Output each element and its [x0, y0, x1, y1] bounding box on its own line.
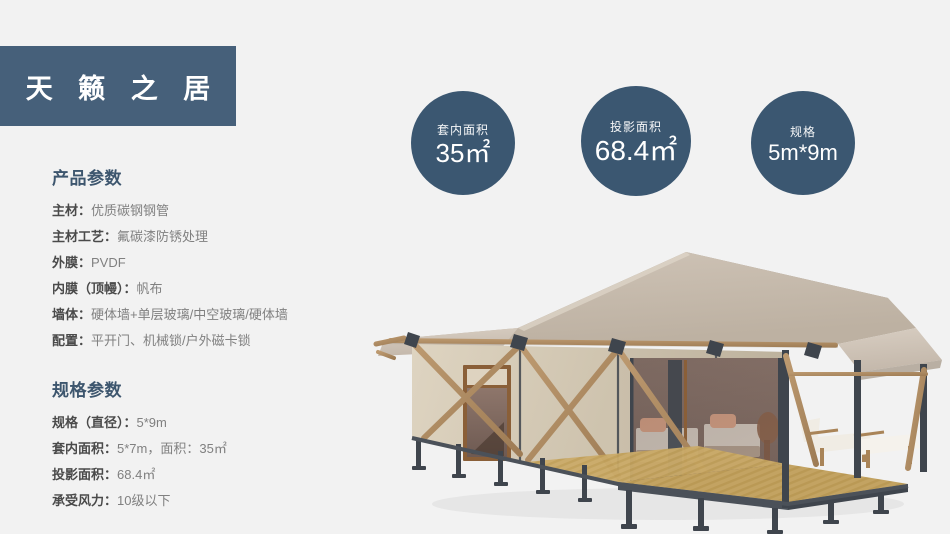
post-footplate	[823, 520, 839, 524]
spec-params-group: 规格参数 规格（直径）：5*9m 套内面积：5*7m，面积：35㎡ 投影面积：6…	[52, 376, 382, 514]
post-footplate	[621, 524, 637, 529]
spec-value: 5*7m，面积：35㎡	[117, 441, 227, 456]
post-footplate	[452, 474, 466, 478]
support-post	[878, 492, 884, 512]
post-footplate	[412, 466, 426, 470]
badge-label: 投影面积	[610, 118, 662, 135]
poster-root: 天 籁 之 居 产品参数 主材：优质碳钢钢管 主材工艺：氟碳漆防锈处理 外膜：P…	[0, 0, 950, 534]
specifications-panel: 产品参数 主材：优质碳钢钢管 主材工艺：氟碳漆防锈处理 外膜：PVDF 内膜（顶…	[52, 164, 382, 520]
stat-badge-interior-area: 套内面积 35㎡	[411, 91, 515, 195]
spec-label: 承受风力：	[52, 493, 117, 508]
roof-main-slope	[384, 252, 916, 344]
spec-label: 内膜（顶幔）：	[52, 281, 137, 296]
spec-label: 规格（直径）：	[52, 415, 137, 430]
spec-value: 68.4㎡	[117, 467, 155, 482]
spec-row: 外膜：PVDF	[52, 250, 382, 276]
support-post	[772, 508, 778, 532]
product-params-heading: 产品参数	[52, 164, 382, 189]
support-post	[828, 500, 834, 522]
safari-tent-icon	[368, 232, 950, 534]
spec-label: 投影面积：	[52, 467, 117, 482]
spec-row: 内膜（顶幔）：帆布	[52, 276, 382, 302]
post-footplate	[536, 490, 550, 494]
post-footplate	[873, 510, 889, 514]
post-footplate	[578, 498, 592, 502]
post-footplate	[693, 526, 709, 531]
spec-value: 帆布	[137, 281, 163, 296]
spec-value: 硬体墙+单层玻璃/中空玻璃/硬体墙	[91, 307, 288, 322]
support-post	[582, 465, 587, 500]
lounge-leg	[866, 450, 870, 468]
post-footplate	[494, 482, 508, 486]
badge-label: 套内面积	[437, 121, 489, 138]
spec-label: 套内面积：	[52, 441, 117, 456]
badge-value: 5m*9m	[768, 142, 838, 164]
spec-value: PVDF	[91, 255, 126, 270]
stat-badge-projected-area: 投影面积 68.4㎡	[581, 86, 691, 196]
badge-value: 68.4㎡	[595, 137, 678, 165]
support-post	[416, 438, 421, 468]
spec-row: 规格（直径）：5*9m	[52, 410, 382, 436]
support-post	[540, 458, 545, 492]
steel-column	[854, 360, 861, 478]
terrace-rail	[788, 372, 928, 376]
spec-label: 墙体：	[52, 307, 91, 322]
spec-row: 配置：平开门、机械锁/户外磁卡锁	[52, 328, 382, 354]
support-post	[626, 490, 632, 526]
spec-value: 平开门、机械锁/户外磁卡锁	[91, 333, 251, 348]
spec-row: 主材工艺：氟碳漆防锈处理	[52, 224, 382, 250]
lounge-leg	[820, 448, 824, 466]
spec-value: 氟碳漆防锈处理	[117, 229, 208, 244]
post-footplate	[767, 530, 783, 534]
product-params-group: 产品参数 主材：优质碳钢钢管 主材工艺：氟碳漆防锈处理 外膜：PVDF 内膜（顶…	[52, 164, 382, 354]
spec-value: 10级以下	[117, 493, 170, 508]
spec-value: 5*9m	[137, 415, 167, 430]
spec-row: 套内面积：5*7m，面积：35㎡	[52, 436, 382, 462]
badge-label: 规格	[790, 123, 816, 140]
spec-row: 承受风力：10级以下	[52, 488, 382, 514]
spec-label: 外膜：	[52, 255, 91, 270]
page-title: 天 籁 之 居	[17, 67, 220, 106]
spec-params-heading: 规格参数	[52, 376, 382, 401]
spec-value: 优质碳钢钢管	[91, 203, 169, 218]
safari-tent-illustration: 帐篷 XUELIAN	[368, 232, 950, 534]
spec-row: 墙体：硬体墙+单层玻璃/中空玻璃/硬体墙	[52, 302, 382, 328]
badge-value: 35㎡	[436, 140, 491, 166]
spec-label: 主材工艺：	[52, 229, 117, 244]
spec-row: 主材：优质碳钢钢管	[52, 198, 382, 224]
support-post	[698, 498, 704, 528]
title-banner: 天 籁 之 居	[0, 46, 236, 126]
spec-label: 主材：	[52, 203, 91, 218]
spec-row: 投影面积：68.4㎡	[52, 462, 382, 488]
spec-label: 配置：	[52, 333, 91, 348]
stat-badge-dimensions: 规格 5m*9m	[751, 91, 855, 195]
